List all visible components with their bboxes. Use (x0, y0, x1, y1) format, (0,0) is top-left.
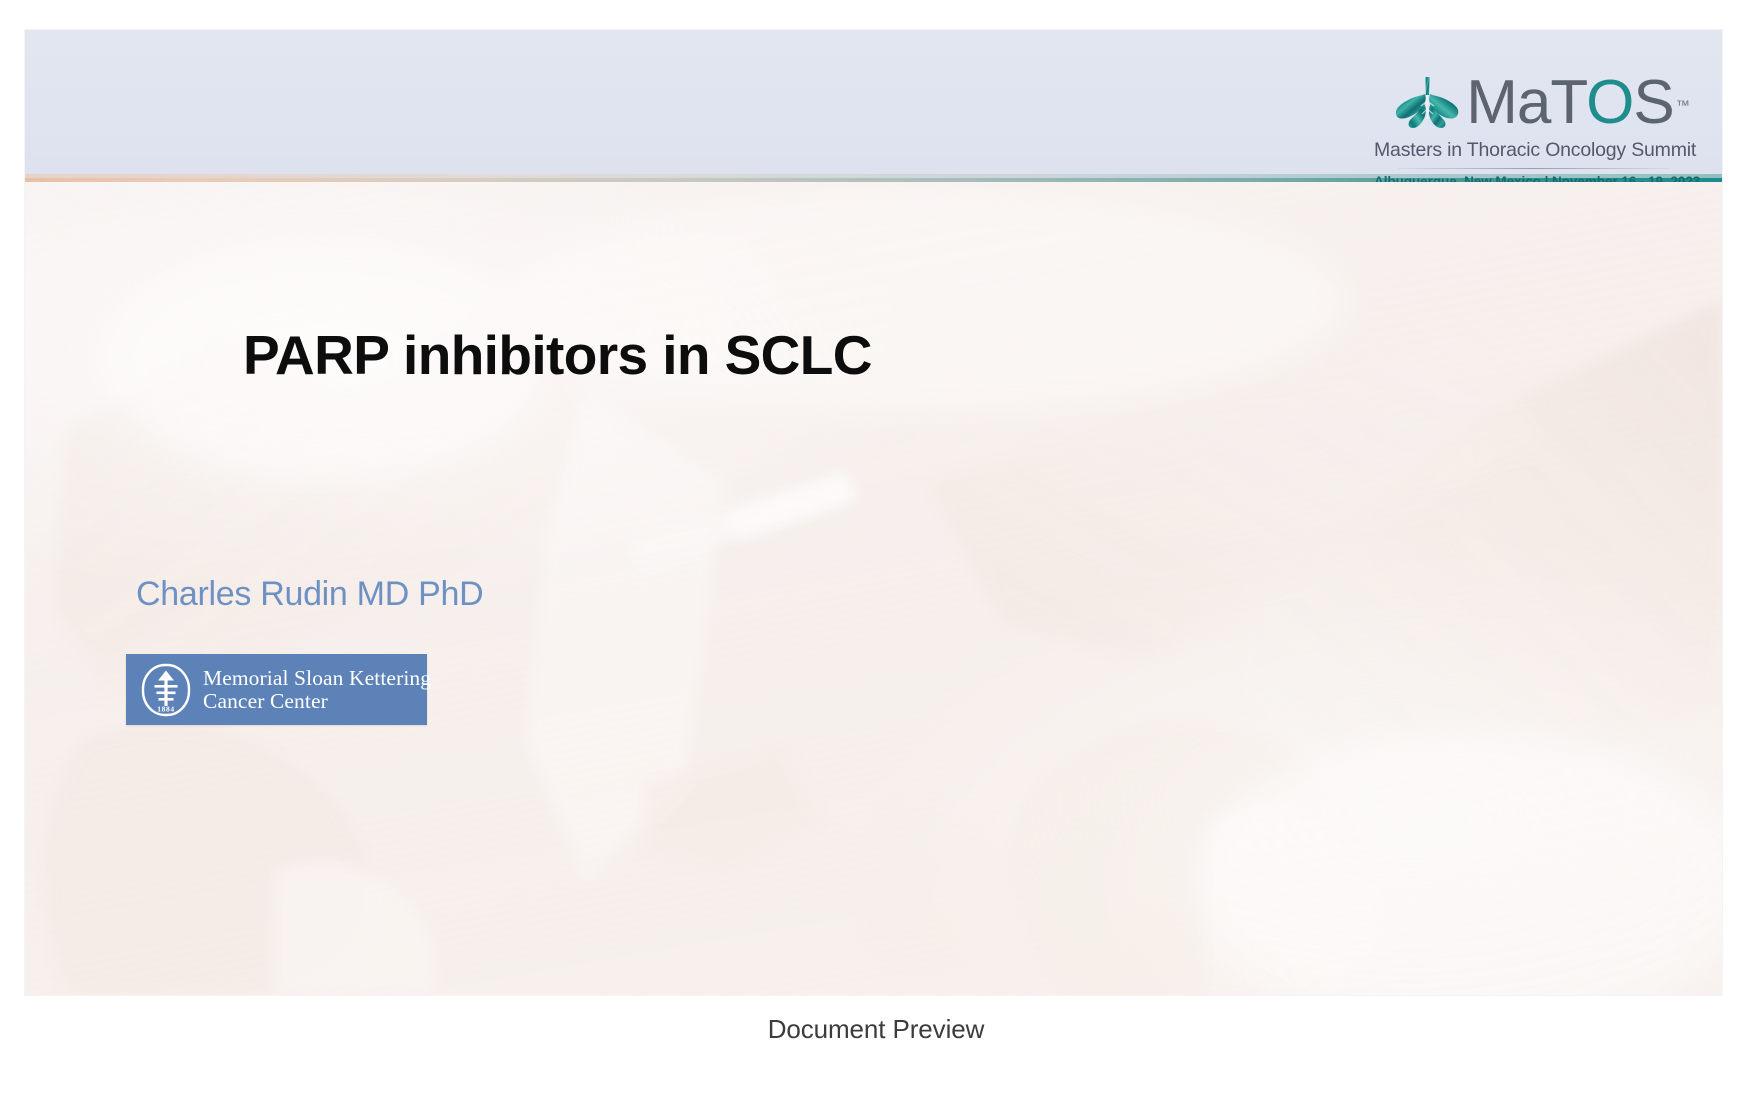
matos-logo: MaTOS ™ Masters in Thoracic Oncology Sum… (1374, 70, 1694, 189)
matos-logo-divider (1398, 168, 1670, 169)
presenter-name: Charles Rudin MD PhD (136, 575, 483, 614)
document-preview-viewport: MaTOS ™ Masters in Thoracic Oncology Sum… (0, 0, 1752, 1096)
svg-text:1884: 1884 (157, 704, 174, 713)
slide-canvas[interactable]: MaTOS ™ Masters in Thoracic Oncology Sum… (25, 30, 1722, 995)
matos-wordmark: MaTOS ™ (1466, 73, 1673, 133)
msk-logo-line-2: Cancer Center (203, 689, 328, 713)
matos-wordmark-s: S (1633, 68, 1673, 137)
msk-logo-text: Memorial Sloan Kettering Cancer Center (203, 667, 431, 713)
matos-logo-top-row: MaTOS ™ (1374, 70, 1694, 136)
msk-arrow-emblem-icon: 1884 (140, 663, 192, 717)
matos-wordmark-mat: MaT (1466, 68, 1586, 137)
msk-logo: 1884 Memorial Sloan Kettering Cancer Cen… (126, 654, 427, 725)
matos-logo-subtitle: Masters in Thoracic Oncology Summit (1374, 139, 1694, 162)
document-preview-caption: Document Preview (0, 1014, 1752, 1045)
msk-logo-line-1: Memorial Sloan Kettering (203, 666, 431, 690)
slide-title: PARP inhibitors in SCLC (243, 323, 872, 387)
matos-wordmark-o: O (1586, 68, 1633, 137)
lungs-icon (1394, 75, 1460, 131)
trademark-symbol: ™ (1676, 75, 1690, 135)
